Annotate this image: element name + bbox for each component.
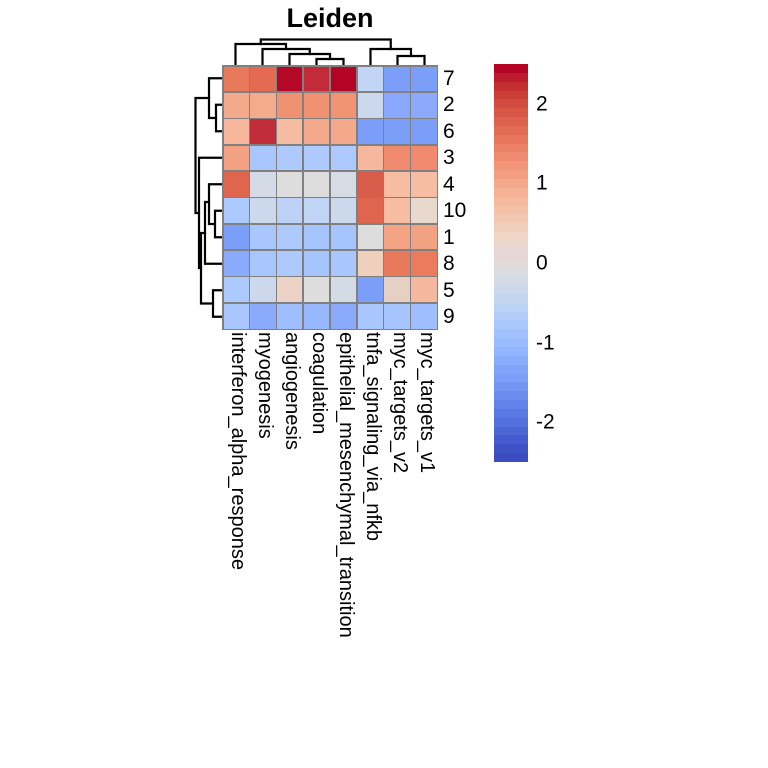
colorbar-segment [494,73,528,82]
colorbar-tick-label: -2 [536,412,555,433]
colorbar-segment [494,241,528,250]
row-dendrogram [194,65,222,330]
row-label: 5 [443,277,487,304]
row-label: 6 [443,118,487,145]
heatmap-cell [411,251,436,276]
heatmap-cell [304,119,329,144]
heatmap-cell [304,198,329,223]
heatmap-cell [224,251,249,276]
heatmap-cell [331,198,356,223]
heatmap-cell [384,93,409,118]
heatmap-cell [277,198,302,223]
column-label: epithelial_mesenchymal_transition [336,332,356,638]
heatmap-cell [224,172,249,197]
colorbar-segment [494,400,528,409]
column-label-slot: angiogenesis [276,332,303,752]
heatmap-cell [411,67,436,92]
row-label: 1 [443,224,487,251]
heatmap-cell [304,225,329,250]
row-label: 2 [443,92,487,119]
heatmap-cell [358,93,383,118]
colorbar-segment [494,126,528,135]
colorbar-segment [494,64,528,73]
heatmap-cell [224,198,249,223]
heatmap-cell [331,146,356,171]
heatmap-cell [384,119,409,144]
row-label: 4 [443,171,487,198]
row-label-list: 72634101859 [443,65,487,330]
heatmap-cell [331,304,356,329]
page-title: Leiden [222,2,438,34]
colorbar-segment [494,223,528,232]
column-dendrogram [222,38,438,65]
row-dendrogram-svg [194,65,222,330]
heatmap-cell [358,198,383,223]
heatmap-cell [277,119,302,144]
colorbar-segment [494,391,528,400]
heatmap-cell [358,67,383,92]
colorbar-segment [494,453,528,462]
colorbar-segment [494,161,528,170]
colorbar-segment [494,409,528,418]
row-label: 8 [443,251,487,278]
colorbar-tick-label: 0 [536,253,548,274]
heatmap-cell [384,146,409,171]
heatmap-cell [331,93,356,118]
column-label: interferon_alpha_response [228,332,248,570]
heatmap-cell [384,277,409,302]
heatmap-cell [277,277,302,302]
row-label: 10 [443,198,487,225]
colorbar-tick-label: -1 [536,332,555,353]
heatmap-cell [411,198,436,223]
colorbar-segment [494,99,528,108]
heatmap-cell [331,277,356,302]
colorbar-segment [494,214,528,223]
column-label-slot: epithelial_mesenchymal_transition [330,332,357,752]
colorbar-tick-label: 2 [536,93,548,114]
colorbar-segment [494,144,528,153]
heatmap-cell [277,304,302,329]
heatmap-cell [358,172,383,197]
heatmap-cell [304,93,329,118]
heatmap-cell [384,172,409,197]
colorbar-tick-label: 1 [536,173,548,194]
heatmap-cell [250,225,275,250]
colorbar-segment [494,303,528,312]
colorbar: 210-1-2 [494,64,604,464]
heatmap-cell [224,146,249,171]
heatmap-cell [250,67,275,92]
heatmap-cell [411,119,436,144]
heatmap-cell [224,119,249,144]
heatmap-cell [250,172,275,197]
column-label: tnfa_signaling_via_nfkb [363,332,383,541]
heatmap-cell [277,225,302,250]
column-label: myogenesis [255,332,275,439]
colorbar-segment [494,259,528,268]
colorbar-segment [494,170,528,179]
heatmap-cell [331,67,356,92]
colorbar-segment [494,435,528,444]
colorbar-segment [494,267,528,276]
heatmap-cell [304,67,329,92]
heatmap-cell [304,172,329,197]
heatmap-cell [277,251,302,276]
colorbar-segment [494,374,528,383]
heatmap-cell [250,146,275,171]
heatmap-cell [277,93,302,118]
colorbar-gradient [494,64,528,462]
column-label-slot: tnfa_signaling_via_nfkb [357,332,384,752]
heatmap-cell [358,251,383,276]
colorbar-segment [494,82,528,91]
column-label-slot: myc_targets_v1 [411,332,438,752]
heatmap-cell [384,304,409,329]
heatmap-cell [304,277,329,302]
colorbar-segment [494,382,528,391]
colorbar-segment [494,294,528,303]
row-label: 9 [443,304,487,331]
colorbar-segment [494,108,528,117]
heatmap-cell [250,119,275,144]
heatmap-cell [384,67,409,92]
colorbar-segment [494,232,528,241]
heatmap-cell [411,225,436,250]
heatmap-cell [331,172,356,197]
column-dendrogram-svg [222,38,438,65]
colorbar-segment [494,91,528,100]
column-label: myc_targets_v1 [417,332,437,473]
heatmap-cell [358,277,383,302]
heatmap-cell [224,67,249,92]
heatmap-cell [411,304,436,329]
colorbar-segment [494,135,528,144]
colorbar-segment [494,312,528,321]
heatmap-cell [411,146,436,171]
colorbar-segment [494,250,528,259]
heatmap-cell [384,198,409,223]
column-label-slot: myogenesis [249,332,276,752]
heatmap-cell [411,277,436,302]
heatmap-cell [224,225,249,250]
colorbar-segment [494,329,528,338]
heatmap-cell [331,225,356,250]
heatmap-cell [384,251,409,276]
heatmap-cell [250,251,275,276]
colorbar-segment [494,347,528,356]
heatmap-cell [224,93,249,118]
colorbar-segment [494,365,528,374]
heatmap-cell [304,146,329,171]
colorbar-tick-labels: 210-1-2 [536,64,596,462]
colorbar-segment [494,117,528,126]
heatmap-cell [304,304,329,329]
heatmap-cell [411,93,436,118]
colorbar-segment [494,338,528,347]
colorbar-segment [494,197,528,206]
heatmap-cell [250,198,275,223]
colorbar-segment [494,188,528,197]
heatmap-cell [331,119,356,144]
heatmap-cell [277,172,302,197]
colorbar-segment [494,356,528,365]
heatmap-cell [411,172,436,197]
colorbar-segment [494,427,528,436]
heatmap-cell [384,225,409,250]
colorbar-segment [494,285,528,294]
column-label-slot: myc_targets_v2 [384,332,411,752]
row-label: 3 [443,145,487,172]
colorbar-segment [494,444,528,453]
heatmap-cell [358,225,383,250]
heatmap-grid [222,65,438,330]
column-label: angiogenesis [282,332,302,450]
heatmap-cell [331,251,356,276]
row-label: 7 [443,65,487,92]
heatmap-cell [304,251,329,276]
heatmap-cell [277,67,302,92]
colorbar-segment [494,206,528,215]
colorbar-segment [494,320,528,329]
heatmap-cell [277,146,302,171]
heatmap-cell [250,93,275,118]
colorbar-segment [494,418,528,427]
column-label-slot: coagulation [303,332,330,752]
colorbar-segment [494,179,528,188]
heatmap-cell [358,119,383,144]
column-label: coagulation [309,332,329,434]
column-label-list: interferon_alpha_responsemyogenesisangio… [222,332,438,752]
heatmap-cell [250,304,275,329]
column-label-slot: interferon_alpha_response [222,332,249,752]
colorbar-segment [494,276,528,285]
column-label: myc_targets_v2 [390,332,410,473]
heatmap-cell [358,304,383,329]
heatmap-cell [250,277,275,302]
heatmap-cell [224,277,249,302]
colorbar-segment [494,152,528,161]
heatmap-figure: Leiden [0,0,768,768]
heatmap-cell [358,146,383,171]
heatmap-cell [224,304,249,329]
